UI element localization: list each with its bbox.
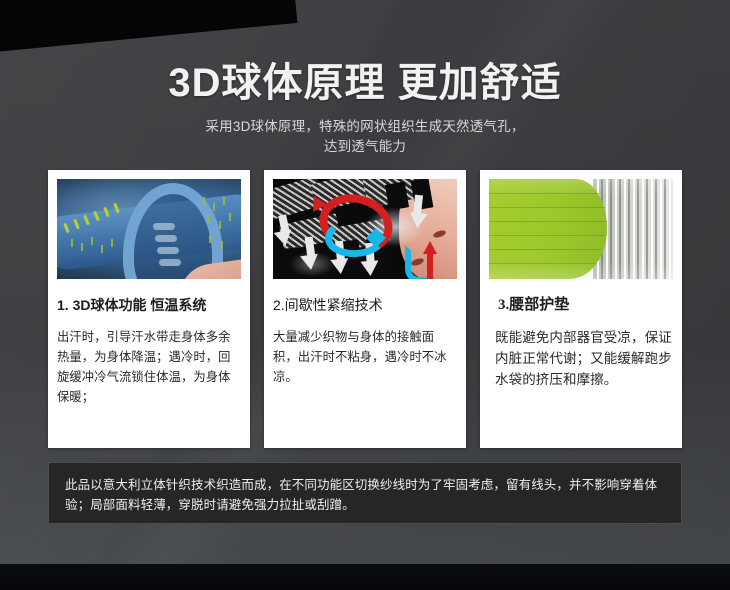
mesh-stitch — [221, 241, 223, 249]
footnote-text: 此品以意大利立体针织技术织造而成，在不同功能区切换纱线时为了牢固考虑，留有线头，… — [65, 475, 667, 515]
mesh-stitch — [223, 197, 225, 205]
feature-cards-row: 1. 3D球体功能 恒温系统 出汗时，引导汗水带走身体多余热量，为身体降温；遇冷… — [48, 170, 682, 448]
mesh-stitch — [203, 197, 205, 205]
feature-card-2-photo — [273, 179, 457, 279]
mesh-stitch — [213, 203, 215, 211]
product-infographic-poster: 3D球体原理 更加舒适 采用3D球体原理，特殊的网状组织生成天然透气孔， 达到透… — [0, 0, 730, 590]
feature-card-2: 2.间歇性紧缩技术 大量减少织物与身体的接触面积，出汗时不粘身，遇冷时不冰凉。 — [264, 170, 466, 448]
feature-card-1-body: 出汗时，引导汗水带走身体多余热量，为身体降温；遇冷时，回旋缓冲冷气流锁住体温，为… — [57, 327, 241, 407]
mesh-stitch — [111, 239, 113, 247]
mesh-stitch — [219, 221, 221, 229]
feature-card-2-body: 大量减少织物与身体的接触面积，出汗时不粘身，遇冷时不冰凉。 — [273, 327, 457, 387]
subtitle-line-2: 达到透气能力 — [0, 137, 730, 157]
mesh-stitch — [81, 243, 83, 251]
bottom-black-band — [0, 564, 730, 590]
page-subtitle: 采用3D球体原理，特殊的网状组织生成天然透气孔， 达到透气能力 — [0, 117, 730, 157]
subtitle-line-1: 采用3D球体原理，特殊的网状组织生成天然透气孔， — [0, 117, 730, 137]
footnote-panel: 此品以意大利立体针织技术织造而成，在不同功能区切换纱线时为了牢固考虑，留有线头，… — [48, 462, 682, 524]
mesh-stitch — [209, 235, 211, 243]
feature-card-1-heading: 1. 3D球体功能 恒温系统 — [57, 296, 241, 314]
feature-card-2-heading: 2.间歇性紧缩技术 — [273, 296, 457, 314]
feature-card-3-photo — [489, 179, 673, 279]
feature-card-3-heading: 3.腰部护垫 — [489, 296, 673, 314]
page-title: 3D球体原理 更加舒适 — [0, 58, 730, 108]
mesh-stitch — [101, 245, 103, 253]
photo-edge-fade — [489, 179, 673, 279]
fabric-ridge — [157, 247, 179, 254]
feature-card-3: 3.腰部护垫 既能避免内部器官受凉，保证内脏正常代谢；又能缓解跑步水袋的挤压和摩… — [480, 170, 682, 448]
feature-card-1: 1. 3D球体功能 恒温系统 出汗时，引导汗水带走身体多余热量，为身体降温；遇冷… — [48, 170, 250, 448]
mesh-stitch — [71, 239, 73, 247]
feature-card-3-body: 既能避免内部器官受凉，保证内脏正常代谢；又能缓解跑步水袋的挤压和摩擦。 — [489, 327, 673, 390]
mesh-stitch — [229, 213, 231, 221]
fabric-ridge — [159, 259, 181, 266]
mesh-stitch — [91, 237, 93, 245]
heat-arrow-red-skin-stem — [427, 253, 433, 279]
feature-card-1-photo — [57, 179, 241, 279]
header: 3D球体原理 更加舒适 采用3D球体原理，特殊的网状组织生成天然透气孔， 达到透… — [0, 58, 730, 157]
fabric-ridge — [155, 235, 177, 242]
fabric-ridge — [153, 223, 175, 230]
mesh-stitch — [207, 215, 209, 223]
